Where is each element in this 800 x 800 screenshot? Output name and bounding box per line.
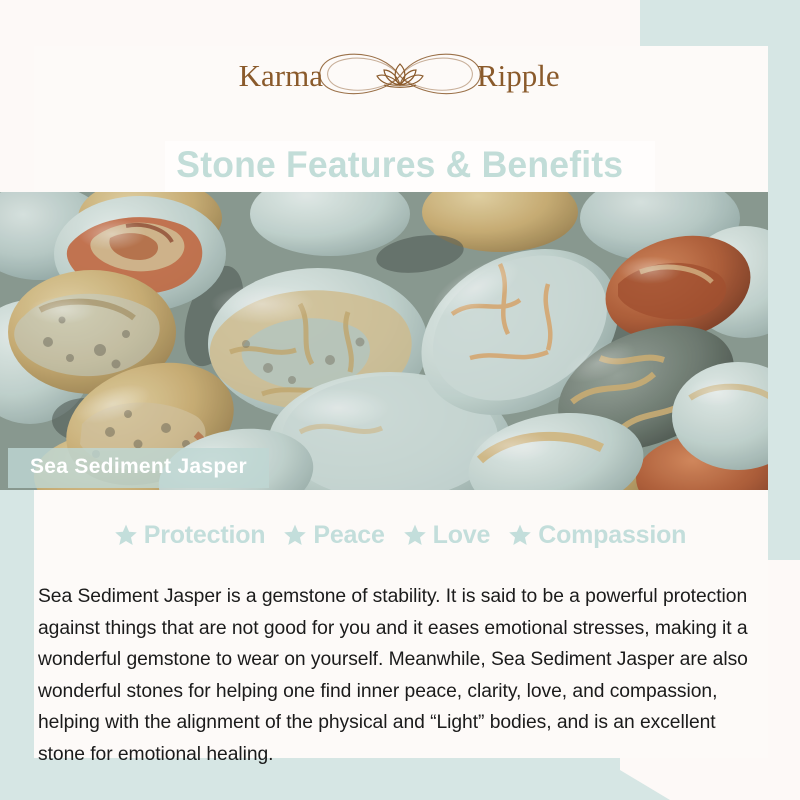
page-title-text: Stone Features & Benefits bbox=[177, 144, 624, 186]
star-icon bbox=[283, 523, 307, 547]
photo-caption-text: Sea Sediment Jasper bbox=[30, 455, 247, 478]
benefit-label: Compassion bbox=[538, 521, 686, 550]
brand-name-right: Ripple bbox=[477, 58, 560, 93]
brand-name-left: Karma bbox=[239, 58, 324, 93]
stone-description: Sea Sediment Jasper is a gemstone of sta… bbox=[38, 581, 750, 770]
star-icon bbox=[114, 523, 138, 547]
brand-logo: Karma Ripple bbox=[0, 40, 800, 112]
content-root: Karma Ripple Stone Features & Benefits bbox=[0, 0, 800, 800]
benefit-item-peace: Peace bbox=[283, 521, 384, 550]
page-title: Stone Features & Benefits bbox=[0, 138, 800, 192]
stone-photo-image bbox=[0, 192, 768, 490]
benefit-item-love: Love bbox=[403, 521, 491, 550]
benefit-item-protection: Protection bbox=[114, 521, 266, 550]
benefit-label: Love bbox=[433, 521, 491, 550]
stone-photo: Sea Sediment Jasper bbox=[0, 192, 768, 490]
benefit-label: Peace bbox=[313, 521, 384, 550]
benefit-label: Protection bbox=[144, 521, 266, 550]
star-icon bbox=[403, 523, 427, 547]
benefits-row: Protection Peace Love Compassion bbox=[0, 514, 800, 556]
photo-caption: Sea Sediment Jasper bbox=[8, 448, 269, 488]
star-icon bbox=[508, 523, 532, 547]
lotus-infinity-emblem-icon: Karma Ripple bbox=[235, 40, 565, 112]
benefit-item-compassion: Compassion bbox=[508, 521, 686, 550]
